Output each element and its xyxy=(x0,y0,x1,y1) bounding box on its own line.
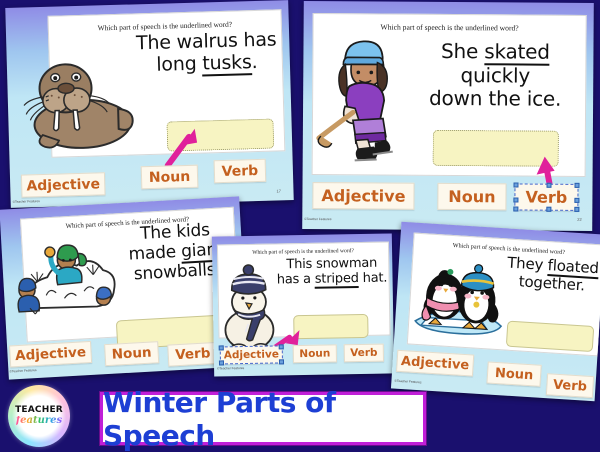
brand-logo-line2: features xyxy=(16,416,62,426)
choice-label: Verb xyxy=(350,347,378,359)
selection-handle[interactable] xyxy=(547,183,552,188)
pointer-arrow-icon xyxy=(158,120,205,169)
selection-handle[interactable] xyxy=(513,197,518,202)
choice-label: Noun xyxy=(299,348,330,361)
choice-verb[interactable]: Verb xyxy=(214,159,267,183)
page-number: 22 xyxy=(577,217,581,222)
kids-snowball-illustration xyxy=(7,229,122,331)
choice-adjective[interactable]: Adjective xyxy=(220,345,283,364)
credit-text: ©Teacher Features xyxy=(217,366,244,370)
choice-label: Verb xyxy=(221,162,258,179)
credit-text: ©Teacher Features xyxy=(394,379,421,385)
selection-handle[interactable] xyxy=(546,207,551,212)
slide-collage: Which part of speech is the underlined w… xyxy=(0,0,600,450)
choice-adjective[interactable]: Adjective xyxy=(21,172,106,197)
page-number: 17 xyxy=(276,188,281,193)
sentence-line-1: She skated xyxy=(406,40,584,65)
choice-adjective[interactable]: Adjective xyxy=(9,341,92,368)
choice-label: Verb xyxy=(526,188,568,207)
selection-handle[interactable] xyxy=(514,182,519,187)
choice-noun[interactable]: Noun xyxy=(104,341,159,366)
choice-label: Noun xyxy=(494,365,533,382)
answer-drop-box[interactable] xyxy=(506,321,594,352)
sentence-line-2: has a striped hat. xyxy=(274,271,389,288)
sentence-line-3: down the ice. xyxy=(406,87,584,112)
slide-card-snowman[interactable]: Which part of speech is the underlined w… xyxy=(212,233,394,376)
choice-noun[interactable]: Noun xyxy=(141,165,199,190)
choice-noun[interactable]: Noun xyxy=(293,344,337,363)
selection-handle[interactable] xyxy=(279,344,284,349)
credit-text: ©Teacher Features xyxy=(13,199,40,204)
credit-text: ©Teacher Features xyxy=(9,368,36,374)
penguins-illustration xyxy=(408,251,511,343)
slide-card-walrus[interactable]: Which part of speech is the underlined w… xyxy=(5,0,293,208)
sentence-text: She skated quickly down the ice. xyxy=(406,40,584,112)
choice-noun[interactable]: Noun xyxy=(437,183,506,210)
brand-logo-line1: TEACHER xyxy=(15,406,63,415)
slide-card-snowballs[interactable]: Which part of speech is the underlined w… xyxy=(0,196,249,379)
choice-verb[interactable]: Verb xyxy=(546,373,594,398)
underlined-word: tusks xyxy=(202,52,252,77)
title-banner: Winter Parts of Speech xyxy=(100,392,426,445)
choice-label: Noun xyxy=(149,168,191,185)
choice-verb[interactable]: Verb xyxy=(514,183,578,210)
choice-verb[interactable]: Verb xyxy=(167,342,218,367)
slide-card-penguins[interactable]: Which part of speech is the underlined w… xyxy=(391,222,600,401)
choice-verb[interactable]: Verb xyxy=(344,344,384,363)
credit-text: ©Teacher Features xyxy=(304,217,331,221)
choice-noun[interactable]: Noun xyxy=(486,361,541,386)
brand-logo: TEACHER features xyxy=(8,385,70,447)
underlined-word: striped xyxy=(315,271,359,289)
selection-handle[interactable] xyxy=(574,207,579,212)
sentence-text: The walrus has long tusks. xyxy=(126,28,287,77)
choice-label: Adjective xyxy=(15,344,87,364)
ice-skater-illustration xyxy=(315,34,411,165)
sentence-text: This snowman has a striped hat. xyxy=(274,255,390,288)
page-title: Winter Parts of Speech xyxy=(103,386,423,452)
choice-label: Verb xyxy=(553,377,588,394)
choice-label: Adjective xyxy=(401,354,470,373)
selection-handle[interactable] xyxy=(574,197,579,202)
choice-label: Noun xyxy=(448,187,495,206)
slide-card-skater[interactable]: Which part of speech is the underlined w… xyxy=(302,1,594,231)
choice-adjective[interactable]: Adjective xyxy=(396,350,474,377)
choice-label: Verb xyxy=(175,345,211,363)
selection-handle[interactable] xyxy=(219,345,224,350)
selection-handle[interactable] xyxy=(279,359,284,364)
selection-handle[interactable] xyxy=(575,183,580,188)
selection-handle[interactable] xyxy=(219,360,224,365)
choice-adjective[interactable]: Adjective xyxy=(312,182,414,210)
question-prompt: Which part of speech is the underlined w… xyxy=(314,22,586,33)
choice-label: Adjective xyxy=(26,176,100,194)
sentence-line-2: long tusks. xyxy=(127,51,288,78)
selection-handle[interactable] xyxy=(513,206,518,211)
sentence-text: They floated together. xyxy=(501,254,600,296)
choice-label: Noun xyxy=(111,345,152,363)
choice-label: Adjective xyxy=(321,186,405,206)
underlined-word: skated xyxy=(484,39,550,65)
sentence-line-2: quickly xyxy=(406,63,584,88)
walrus-illustration xyxy=(20,46,135,153)
choice-label: Adjective xyxy=(224,348,279,361)
